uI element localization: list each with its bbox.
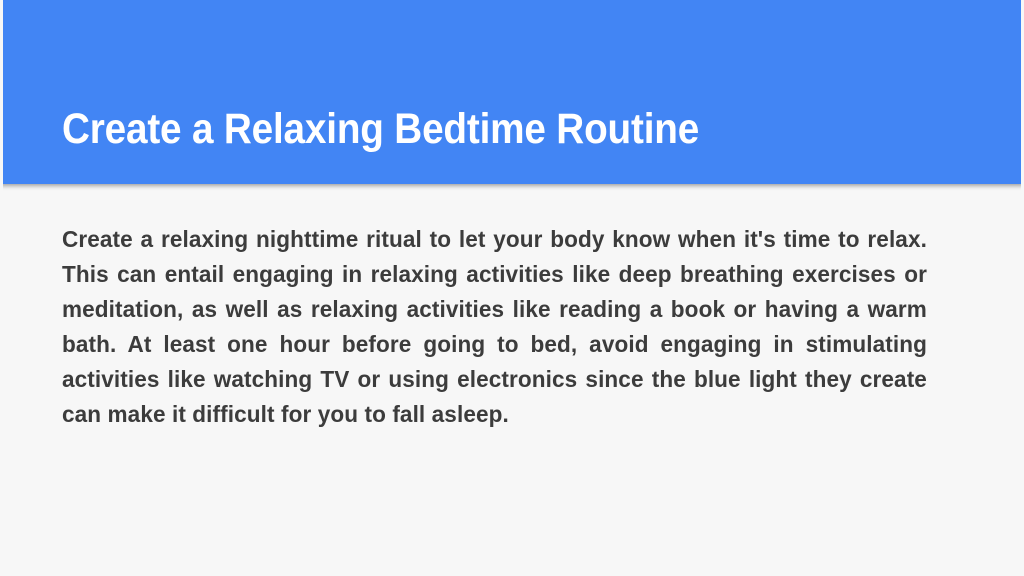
presentation-slide: Create a Relaxing Bedtime Routine Create… [0,0,1024,576]
slide-title: Create a Relaxing Bedtime Routine [62,104,872,154]
slide-body-area: Create a relaxing nighttime ritual to le… [62,222,963,432]
slide-left-edge-strip [0,0,3,576]
body-paragraph: Create a relaxing nighttime ritual to le… [62,222,927,432]
title-banner: Create a Relaxing Bedtime Routine [0,0,1024,184]
